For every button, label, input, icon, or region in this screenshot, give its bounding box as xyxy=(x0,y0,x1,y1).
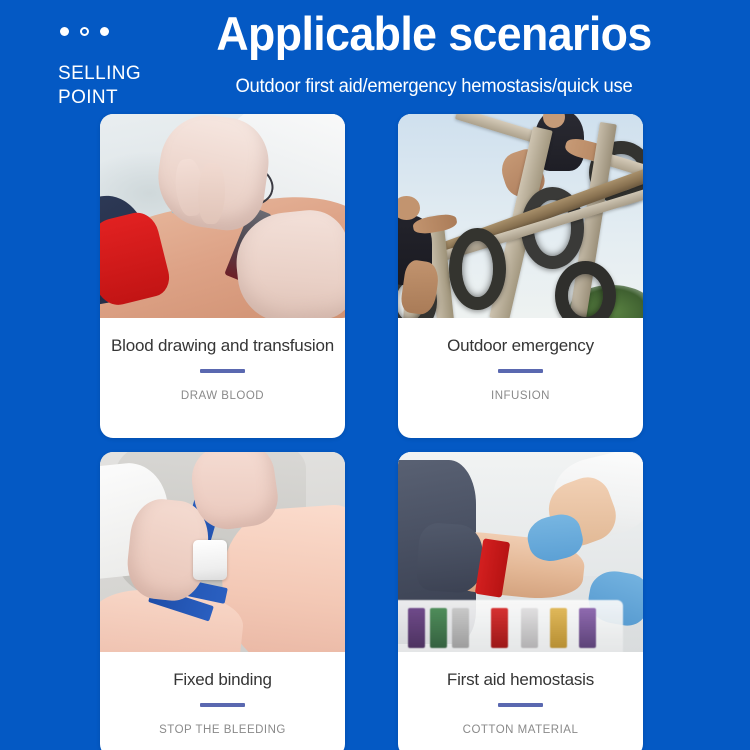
card-divider xyxy=(498,369,543,373)
scenario-card-first-aid-hemostasis[interactable]: First aid hemostasis COTTON MATERIAL xyxy=(398,452,643,750)
card-divider xyxy=(200,703,245,707)
page-title: Applicable scenarios xyxy=(191,3,677,65)
card-title: First aid hemostasis xyxy=(398,669,643,691)
card-divider xyxy=(498,703,543,707)
card-divider xyxy=(200,369,245,373)
dot-filled-icon xyxy=(100,27,109,36)
card-photo-outdoor-emergency xyxy=(398,114,643,318)
scenario-card-blood-drawing[interactable]: Blood drawing and transfusion DRAW BLOOD xyxy=(100,114,345,438)
card-title: Outdoor emergency xyxy=(398,335,643,357)
card-subtitle: COTTON MATERIAL xyxy=(398,723,643,738)
card-subtitle: INFUSION xyxy=(398,389,643,404)
card-body: Blood drawing and transfusion DRAW BLOOD xyxy=(100,318,345,404)
selling-point-line2: POINT xyxy=(58,86,178,110)
page-subtitle: Outdoor first aid/emergency hemostasis/q… xyxy=(186,74,683,99)
selling-point-badge: SELLING POINT xyxy=(58,62,178,110)
card-body: First aid hemostasis COTTON MATERIAL xyxy=(398,652,643,738)
card-photo-blood-drawing xyxy=(100,114,345,318)
scenario-card-outdoor-emergency[interactable]: Outdoor emergency INFUSION xyxy=(398,114,643,438)
dot-filled-icon xyxy=(60,27,69,36)
card-photo-first-aid-hemostasis xyxy=(398,452,643,652)
page-header: SELLING POINT Applicable scenarios Outdo… xyxy=(0,0,750,114)
card-subtitle: DRAW BLOOD xyxy=(100,389,345,404)
card-photo-fixed-binding xyxy=(100,452,345,652)
scenario-card-fixed-binding[interactable]: Fixed binding STOP THE BLEEDING xyxy=(100,452,345,750)
card-body: Fixed binding STOP THE BLEEDING xyxy=(100,652,345,738)
card-title: Blood drawing and transfusion xyxy=(100,335,345,357)
card-body: Outdoor emergency INFUSION xyxy=(398,318,643,404)
card-title: Fixed binding xyxy=(100,669,345,691)
selling-point-line1: SELLING xyxy=(58,62,178,86)
dot-hollow-icon xyxy=(80,27,89,36)
dots-decoration xyxy=(60,27,109,36)
card-subtitle: STOP THE BLEEDING xyxy=(100,723,345,738)
